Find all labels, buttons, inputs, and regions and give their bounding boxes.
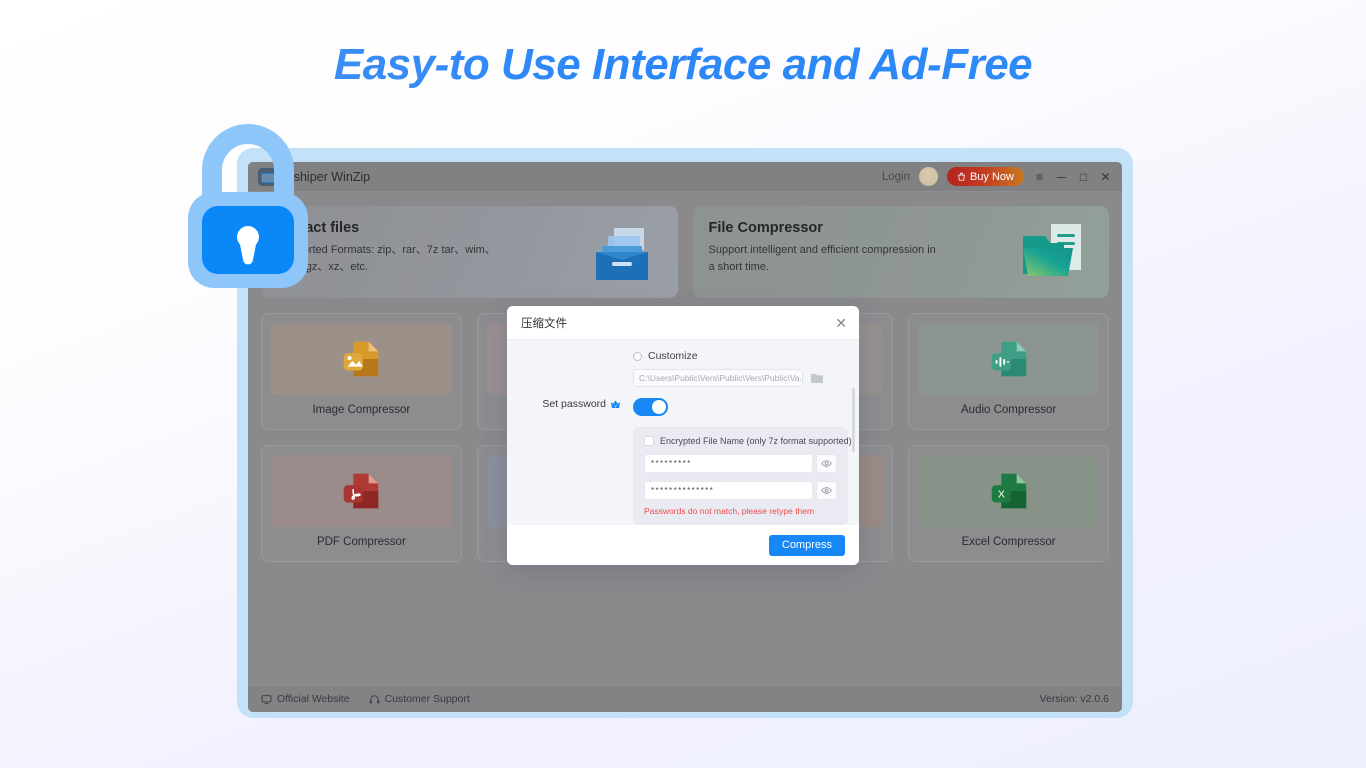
output-path-input[interactable]: C:\Users\Public\Vers\Public\Vers\Public\… (633, 369, 803, 387)
banner-desc: Support intelligent and efficient compre… (709, 242, 939, 275)
password-row: ********* (644, 454, 837, 473)
login-button[interactable]: Login (882, 171, 910, 183)
dialog-header: 压缩文件 ✕ (507, 306, 859, 340)
customize-radio-option[interactable]: Customize (633, 350, 824, 362)
password-input[interactable]: ********* (644, 454, 813, 473)
app-footer: Official Website Customer Support Versio… (248, 685, 1122, 712)
dialog-body: Customize C:\Users\Public\Vers\Public\Ve… (507, 340, 859, 525)
encrypt-filename-checkbox-row[interactable]: Encrypted File Name (only 7z format supp… (644, 436, 837, 446)
hamburger-menu-icon[interactable]: ≡ (1033, 171, 1046, 183)
excel-file-icon: X (986, 468, 1032, 514)
dialog-title: 压缩文件 (521, 315, 567, 331)
eye-icon (821, 458, 832, 469)
customer-support-link[interactable]: Customer Support (369, 693, 470, 705)
password-error-message: Passwords do not match, please retype th… (644, 506, 837, 516)
app-titlebar: inshiper WinZip Login Buy Now ≡ ─ □ ✕ (248, 162, 1122, 192)
version-label: Version: v2.0.6 (1040, 693, 1109, 705)
maximize-icon[interactable]: □ (1077, 171, 1090, 183)
tool-label: Excel Compressor (962, 536, 1056, 548)
extract-files-box-icon (586, 218, 658, 286)
tool-thumb: X (918, 455, 1099, 527)
page-headline: Easy-to Use Interface and Ad-Free (0, 40, 1366, 90)
encrypt-filename-label: Encrypted File Name (only 7z format supp… (660, 436, 852, 446)
titlebar-actions: Login Buy Now ≡ ─ □ ✕ (882, 167, 1116, 186)
official-website-link[interactable]: Official Website (261, 693, 350, 705)
set-password-text: Set password (542, 398, 606, 410)
shopping-bag-icon (957, 172, 966, 181)
headset-icon (369, 694, 380, 705)
toggle-password-confirm-visibility-button[interactable] (816, 481, 837, 500)
path-row: C:\Users\Public\Vers\Public\Vers\Public\… (633, 369, 824, 387)
buy-now-button[interactable]: Buy Now (947, 167, 1024, 186)
set-password-label: Set password V (523, 398, 633, 410)
checkbox-unchecked-icon[interactable] (644, 436, 654, 446)
vertical-scrollbar[interactable] (852, 388, 855, 452)
set-password-row: Set password V (523, 398, 843, 416)
banner-row: Extract files Supported Formats: zip、rar… (261, 206, 1109, 298)
tool-card-image-compressor[interactable]: Image Compressor (261, 313, 462, 430)
tool-thumb (918, 323, 1099, 395)
pdf-file-icon (338, 468, 384, 514)
banner-file-compressor[interactable]: File Compressor Support intelligent and … (693, 206, 1110, 298)
official-website-label: Official Website (277, 693, 350, 705)
tool-card-pdf-compressor[interactable]: PDF Compressor (261, 445, 462, 562)
output-path-row: Customize C:\Users\Public\Vers\Public\Ve… (523, 350, 843, 387)
close-icon[interactable]: ✕ (835, 316, 847, 330)
tool-label: PDF Compressor (317, 536, 406, 548)
tool-thumb (271, 323, 452, 395)
tool-card-audio-compressor[interactable]: Audio Compressor (908, 313, 1109, 430)
svg-text:X: X (997, 489, 1004, 501)
eye-icon (821, 485, 832, 496)
output-path-controls: Customize C:\Users\Public\Vers\Public\Ve… (633, 350, 824, 387)
compress-file-dialog: 压缩文件 ✕ Customize C:\Users\Public\Vers\Pu… (507, 306, 859, 565)
password-panel: Encrypted File Name (only 7z format supp… (633, 427, 848, 525)
customize-label: Customize (648, 350, 698, 362)
monitor-icon (261, 694, 272, 705)
audio-file-icon (986, 336, 1032, 382)
avatar-icon[interactable] (919, 167, 938, 186)
image-file-icon (338, 336, 384, 382)
buy-now-label: Buy Now (970, 171, 1014, 183)
tool-label: Image Compressor (312, 404, 410, 416)
customer-support-label: Customer Support (385, 693, 470, 705)
tool-label: Audio Compressor (961, 404, 1056, 416)
padlock-icon (182, 114, 314, 294)
radio-unchecked-icon[interactable] (633, 352, 642, 361)
password-confirm-row: ************** (644, 481, 837, 500)
minimize-icon[interactable]: ─ (1055, 171, 1068, 183)
toggle-password-visibility-button[interactable] (816, 454, 837, 473)
svg-text:V: V (614, 403, 617, 408)
compress-folder-icon (1017, 218, 1089, 286)
vip-crown-icon: V (610, 399, 621, 410)
set-password-toggle[interactable] (633, 398, 668, 416)
folder-icon[interactable] (810, 372, 824, 384)
close-icon[interactable]: ✕ (1099, 171, 1112, 183)
tool-card-excel-compressor[interactable]: X Excel Compressor (908, 445, 1109, 562)
banner-extract-files[interactable]: Extract files Supported Formats: zip、rar… (261, 206, 678, 298)
tool-thumb (271, 455, 452, 527)
compress-button[interactable]: Compress (769, 535, 845, 556)
dialog-footer: Compress (507, 525, 859, 565)
password-confirm-input[interactable]: ************** (644, 481, 813, 500)
